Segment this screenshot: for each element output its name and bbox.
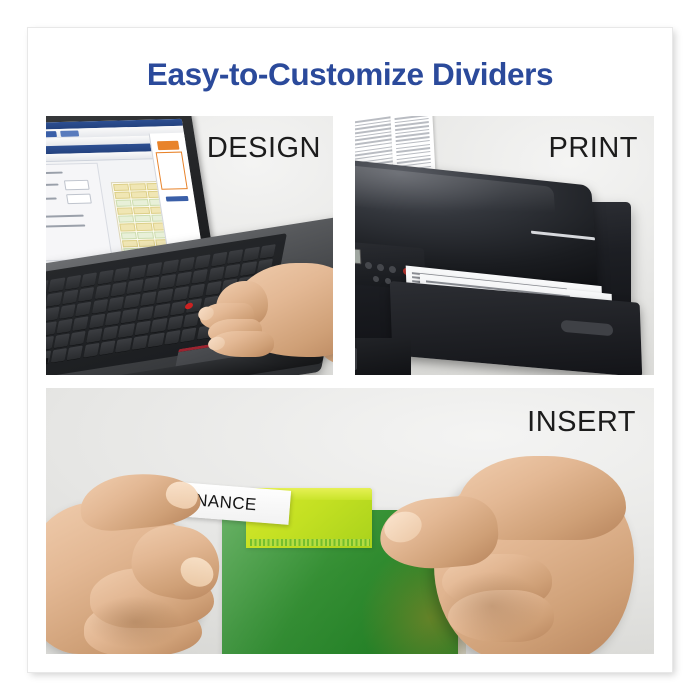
screen-tab-chip-2 <box>60 130 79 136</box>
screen-preview-tab <box>157 141 180 150</box>
right-hand-holding-divider <box>372 446 644 654</box>
screen-side-chip <box>166 196 189 202</box>
panel-label-design: DESIGN <box>207 132 321 165</box>
panel-label-insert: INSERT <box>527 406 636 439</box>
page-title: Easy-to-Customize Dividers <box>28 56 672 93</box>
left-hand-shading <box>80 592 190 652</box>
panel-design: DESIGN <box>46 116 333 375</box>
divider-tab-seam <box>250 539 370 546</box>
screen-form-input-2 <box>66 194 92 205</box>
printer-button-2 <box>377 264 384 272</box>
screen-form-input-1 <box>64 180 90 191</box>
screen-form-panel <box>46 163 113 262</box>
hand-on-trackpad <box>170 259 333 375</box>
right-hand-shading <box>432 566 552 646</box>
panel-insert: FINANCE INSERT <box>46 388 654 654</box>
printer-button-1 <box>365 262 372 270</box>
printer-button-3 <box>389 266 396 274</box>
left-hand-holding-label <box>46 472 260 654</box>
product-image-card: Easy-to-Customize Dividers <box>28 28 672 672</box>
panel-print: PRINT <box>355 116 654 375</box>
screen-tab-chip <box>46 131 57 138</box>
printer-button-4 <box>373 276 379 283</box>
printer-lower-body <box>355 338 411 375</box>
panel-label-print: PRINT <box>549 132 639 165</box>
printer-lcd-display <box>355 247 361 265</box>
printer-card-slot <box>355 348 357 370</box>
